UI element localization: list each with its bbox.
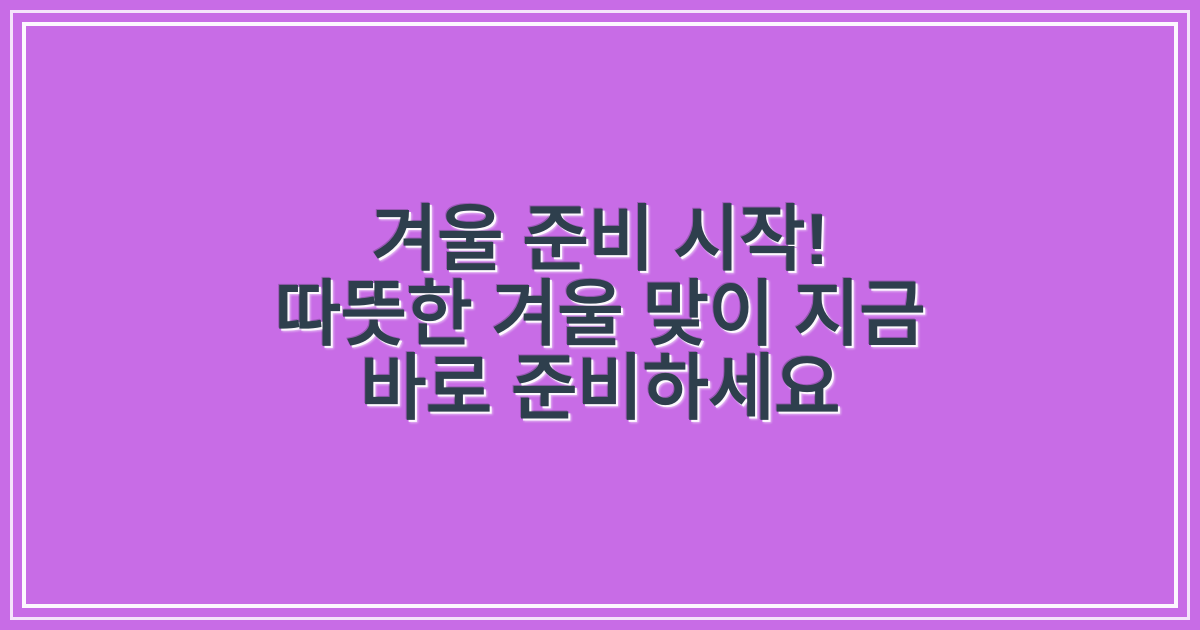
promo-banner: 겨울 준비 시작! 따뜻한 겨울 맞이 지금 바로 준비하세요 bbox=[0, 0, 1200, 630]
headline-container: 겨울 준비 시작! 따뜻한 겨울 맞이 지금 바로 준비하세요 bbox=[0, 0, 1200, 630]
headline-line-2: 따뜻한 겨울 맞이 지금 bbox=[275, 278, 925, 353]
headline-line-3: 바로 준비하세요 bbox=[275, 352, 925, 427]
headline-line-1: 겨울 준비 시작! bbox=[275, 203, 925, 278]
banner-headline: 겨울 준비 시작! 따뜻한 겨울 맞이 지금 바로 준비하세요 bbox=[275, 203, 925, 428]
